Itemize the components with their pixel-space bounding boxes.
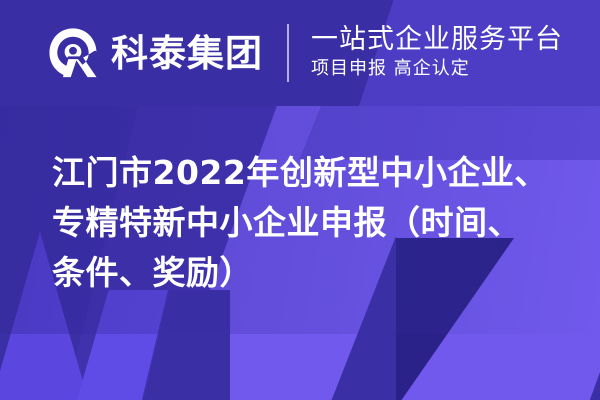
headline-line-1: 江门市2022年创新型中小企业、 xyxy=(52,148,572,198)
tagline-block: 一站式企业服务平台 项目申报 高企认定 xyxy=(311,25,563,81)
headline: 江门市2022年创新型中小企业、 专精特新中小企业申报（时间、 条件、奖励） xyxy=(52,148,572,298)
brand-name: 科泰集团 xyxy=(111,35,263,72)
promo-banner: 科泰集团 一站式企业服务平台 项目申报 高企认定 江门市2022年创新型中小企业… xyxy=(0,0,600,400)
tagline-sub: 项目申报 高企认定 xyxy=(311,58,563,81)
ketai-circle-logo-icon xyxy=(45,25,101,81)
banner-header: 科泰集团 一站式企业服务平台 项目申报 高企认定 xyxy=(0,0,600,106)
headline-line-2: 专精特新中小企业申报（时间、 xyxy=(52,198,572,248)
headline-line-3: 条件、奖励） xyxy=(52,248,572,298)
header-divider xyxy=(287,24,289,82)
tagline-main: 一站式企业服务平台 xyxy=(311,25,563,55)
